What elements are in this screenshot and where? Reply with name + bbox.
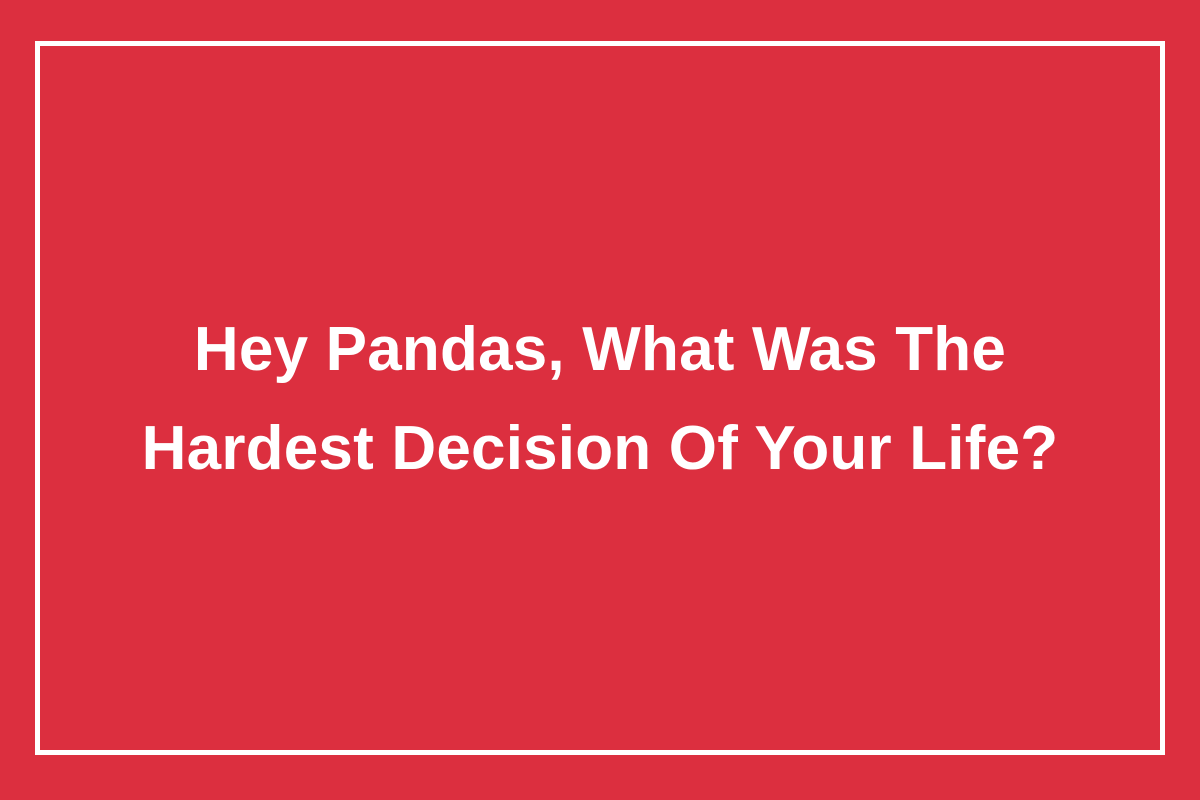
headline-line-1: Hey Pandas, What Was The <box>60 300 1140 399</box>
headline-line-2: Hardest Decision Of Your Life? <box>60 399 1140 498</box>
page-title: Hey Pandas, What Was The Hardest Decisio… <box>0 300 1200 498</box>
promo-card: Hey Pandas, What Was The Hardest Decisio… <box>0 0 1200 800</box>
